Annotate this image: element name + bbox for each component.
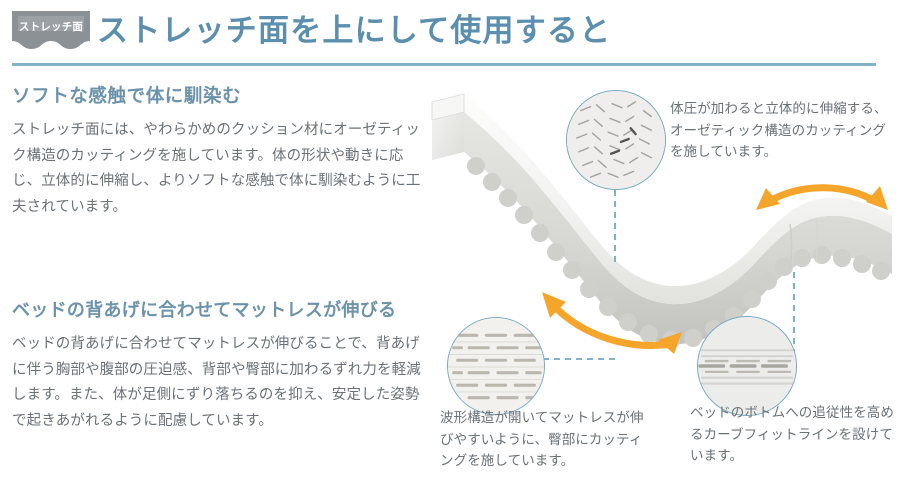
section-1-heading: ソフトな感触で体に馴染む [12, 84, 422, 108]
section-2-heading: ベッドの背あげに合わせてマットレスが伸びる [12, 298, 422, 322]
caption-curve-fit-line: ベッドのボトムへの追従性を高めるカーブフィットラインを設けています。 [690, 402, 895, 467]
wave-slit-texture-icon [448, 318, 544, 414]
caption-wave-slit: 波形構造が開いてマットレスが伸びやすいように、臀部にカッティングを施しています。 [440, 407, 655, 472]
auxetic-cut-texture-icon [567, 91, 665, 189]
detail-circle-wave-slit [447, 317, 545, 415]
section-soft-touch: ソフトな感触で体に馴染む ストレッチ面には、やわらかめのクッション材にオーゼティ… [12, 84, 422, 220]
page-title: ストレッチ面を上にして使用すると [97, 11, 611, 51]
section-back-raise: ベッドの背あげに合わせてマットレスが伸びる ベッドの背あげに合わせてマットレスが… [12, 298, 422, 434]
detail-circle-curve-fit-line [697, 316, 797, 416]
curve-fit-line-texture-icon [698, 317, 796, 415]
section-2-body: ベッドの背あげに合わせてマットレスが伸びることで、背あげに伴う胸部や腹部の圧迫感… [12, 332, 422, 434]
stretch-surface-badge: ストレッチ面 [12, 11, 90, 54]
infographic-page: ストレッチ面 ストレッチ面を上にして使用すると ソフトな感触で体に馴染む ストレ… [0, 0, 900, 497]
page-header: ストレッチ面 ストレッチ面を上にして使用すると [0, 0, 900, 72]
detail-circle-auxetic-cut [566, 90, 666, 190]
section-1-body: ストレッチ面には、やわらかめのクッション材にオーゼティック構造のカッティングを施… [12, 118, 422, 220]
caption-auxetic-cut: 体圧が加わると立体的に伸縮する、オーゼティック構造のカッティングを施しています。 [670, 98, 898, 163]
title-divider [12, 63, 876, 66]
badge-label: ストレッチ面 [12, 19, 90, 34]
